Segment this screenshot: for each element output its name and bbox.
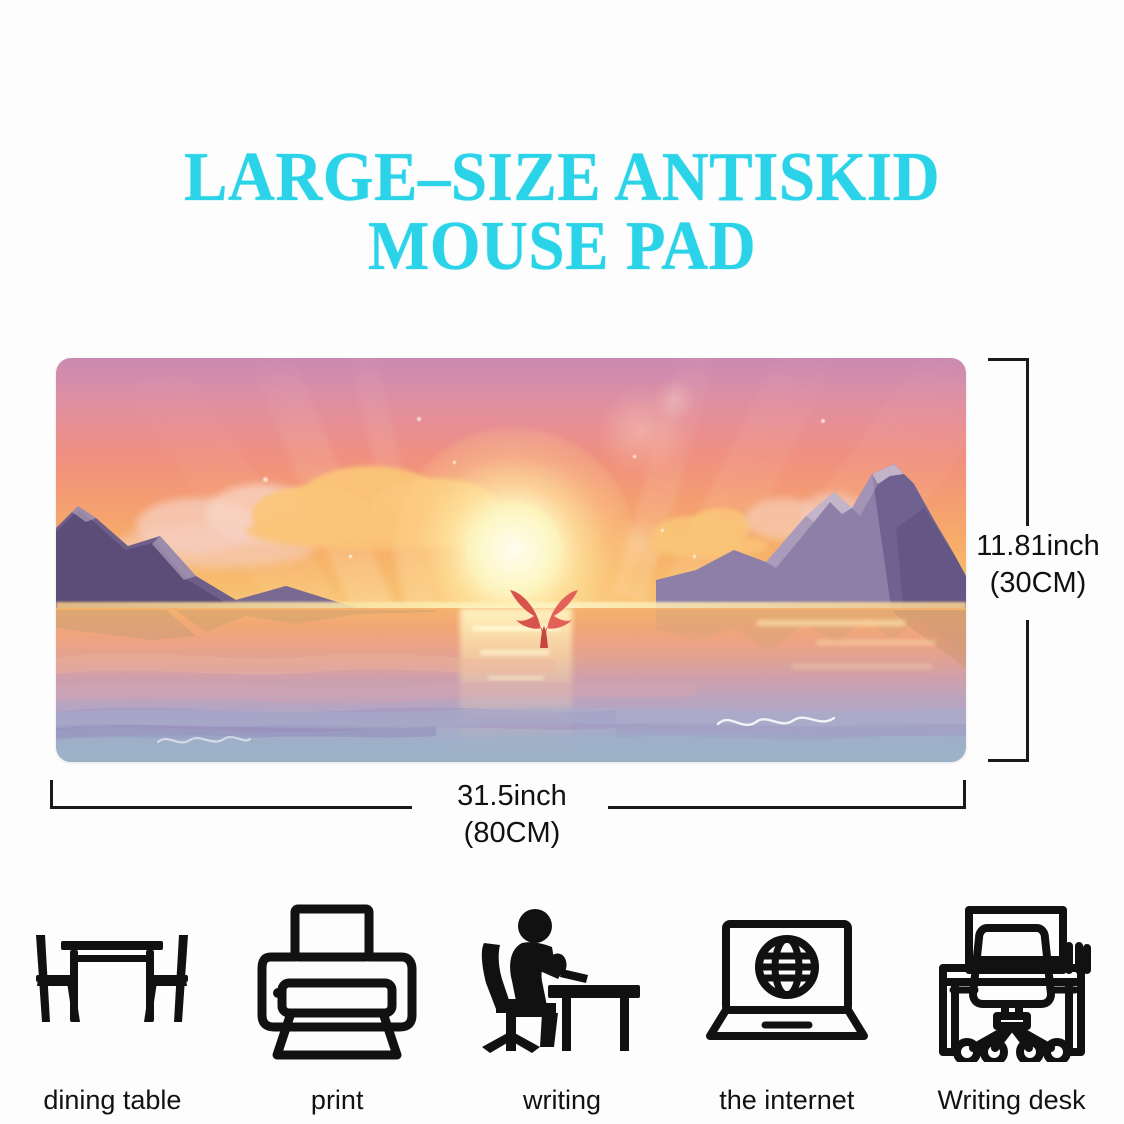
use-case-caption: Writing desk bbox=[938, 1087, 1086, 1114]
width-dimension-inch: 31.5inch bbox=[362, 778, 662, 815]
use-case-caption: print bbox=[311, 1087, 364, 1114]
page-title: LARGE–SIZE ANTISKID MOUSE PAD bbox=[39, 144, 1084, 280]
use-case-print: print bbox=[225, 878, 450, 1124]
height-bracket-vertical-bottom bbox=[1026, 620, 1029, 762]
sun-icon bbox=[466, 502, 562, 598]
use-case-icon-row: dining table print bbox=[0, 878, 1124, 1124]
use-case-writing: writing bbox=[450, 878, 675, 1124]
use-case-writing-desk: Writing desk bbox=[899, 878, 1124, 1124]
height-dimension-label: 11.81inch (30CM) bbox=[958, 528, 1118, 601]
height-bracket-cap-bottom bbox=[988, 759, 1029, 762]
desk-with-office-chair-icon bbox=[929, 894, 1095, 1069]
width-dimension-cm: (80CM) bbox=[362, 815, 662, 852]
whale-tail-icon bbox=[508, 586, 580, 648]
globe-icon bbox=[759, 939, 815, 995]
width-bracket-cap-left bbox=[50, 780, 53, 809]
height-dimension-inch: 11.81inch bbox=[958, 528, 1118, 565]
width-bracket-cap-right bbox=[963, 780, 966, 809]
dining-table-icon bbox=[24, 894, 200, 1069]
height-dimension-cm: (30CM) bbox=[958, 565, 1118, 602]
width-bracket-horizontal-left bbox=[50, 806, 412, 809]
laptop-globe-icon bbox=[705, 894, 869, 1069]
person-writing-at-desk-icon bbox=[478, 894, 646, 1069]
right-mountain-range bbox=[656, 458, 966, 614]
use-case-caption: dining table bbox=[43, 1087, 181, 1114]
use-case-dining-table: dining table bbox=[0, 878, 225, 1124]
mouse-pad-artwork bbox=[56, 358, 966, 762]
mouse-pad-product-image bbox=[56, 358, 966, 762]
height-bracket-cap-top bbox=[988, 358, 1029, 361]
page-title-line-2: MOUSE PAD bbox=[39, 213, 1084, 280]
height-bracket-vertical-top bbox=[1026, 358, 1029, 526]
use-case-caption: the internet bbox=[719, 1087, 854, 1114]
page-title-line-1: LARGE–SIZE ANTISKID bbox=[39, 144, 1084, 211]
printer-icon bbox=[257, 894, 417, 1069]
use-case-caption: writing bbox=[523, 1087, 601, 1114]
left-mountain-range bbox=[56, 488, 436, 614]
width-dimension-label: 31.5inch (80CM) bbox=[362, 778, 662, 851]
use-case-the-internet: the internet bbox=[674, 878, 899, 1124]
